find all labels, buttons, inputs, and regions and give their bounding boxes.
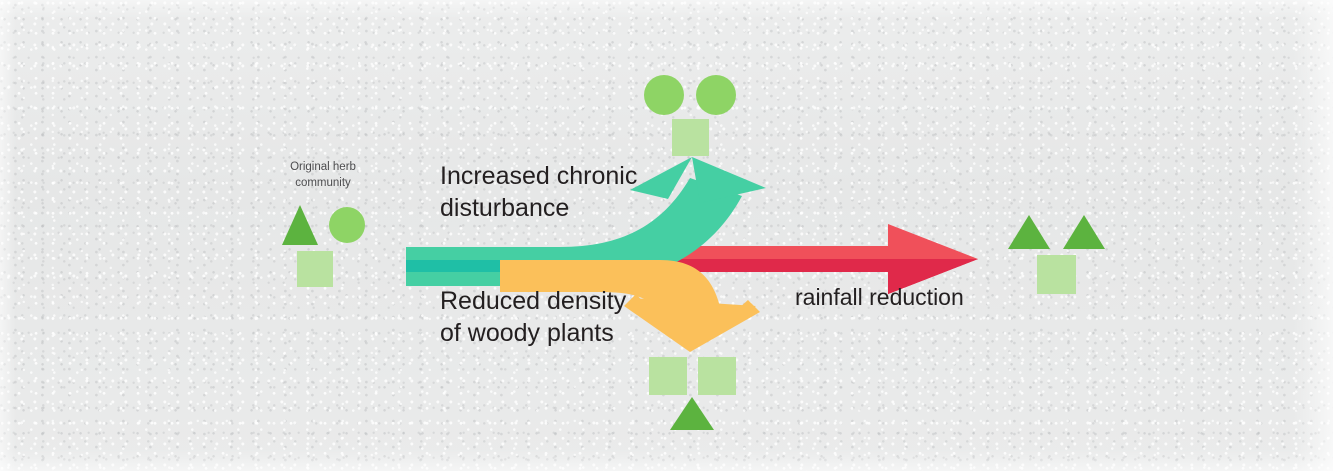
diagram-artwork <box>0 0 1333 471</box>
square-light-green <box>297 251 333 287</box>
yellow-arrow-head-fill <box>632 298 756 352</box>
square-light-green <box>1037 255 1076 294</box>
triangle-dark-green <box>1008 215 1050 249</box>
cluster-reduced-woody-plants-outcome <box>649 357 736 430</box>
circle-mid-green <box>696 75 736 115</box>
triangle-dark-green <box>1063 215 1105 249</box>
diagram-canvas: Original herb community Increased chroni… <box>0 0 1333 471</box>
teal-stem-light <box>406 247 616 260</box>
label-original-herb-community: Original herb community <box>268 160 378 191</box>
circle-mid-green <box>644 75 684 115</box>
label-increased-chronic-disturbance: Increased chronic disturbance <box>440 160 637 224</box>
circle-mid-green <box>329 207 365 243</box>
cluster-rainfall-reduction-outcome <box>1008 215 1105 294</box>
teal-arrow-head <box>692 157 766 203</box>
square-light-green <box>698 357 736 395</box>
cluster-original-herb-community <box>282 205 365 287</box>
cluster-increased-disturbance-outcome <box>644 75 736 156</box>
triangle-dark-green <box>670 397 714 430</box>
triangle-dark-green <box>282 205 318 245</box>
square-light-green <box>649 357 687 395</box>
label-reduced-density-of-woody-plants: Reduced density of woody plants <box>440 285 626 349</box>
square-light-green <box>672 119 709 156</box>
label-rainfall-reduction: rainfall reduction <box>795 283 964 312</box>
